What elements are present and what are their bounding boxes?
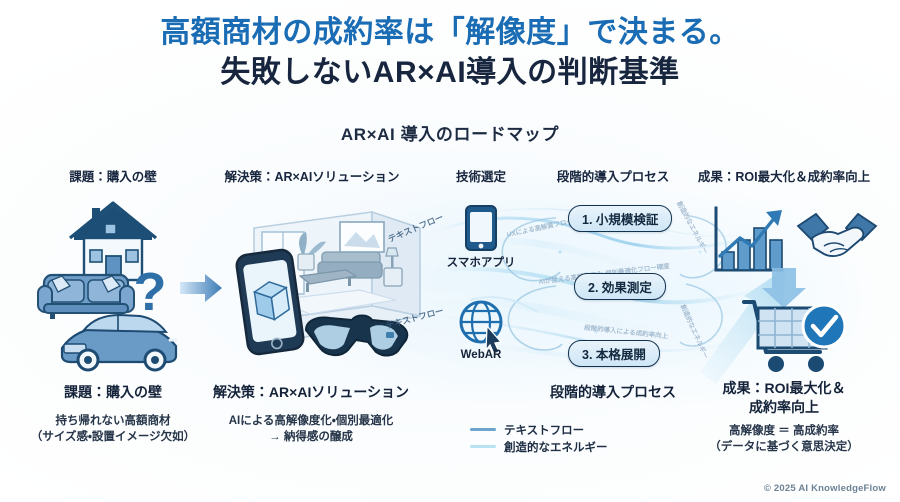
question-mark-icon: ? xyxy=(134,262,167,322)
headline-line-1: 高額商材の成約率は「解像度」で決まる。 xyxy=(0,14,900,52)
column-header-technology: 技術選定 xyxy=(456,166,506,185)
legend-item-energy: 創造的なエネルギー xyxy=(470,438,608,455)
process-steps-group: 1. 小規模検証 2. 効果測定 3. 本格展開 xyxy=(556,205,706,365)
down-arrow-icon xyxy=(762,268,806,308)
svg-text:?: ? xyxy=(134,262,167,322)
house-illustration xyxy=(70,203,156,280)
legend: テキストフロー 創造的なエネルギー xyxy=(470,421,608,455)
smartphone-icon xyxy=(466,206,496,250)
bottom-title-problem: 課題：購入の壁 xyxy=(64,384,162,401)
legend-label-text-flow: テキストフロー xyxy=(504,422,584,438)
car-illustration xyxy=(62,315,176,370)
headline-line-2: 失敗しないAR×AI導入の判断基準 xyxy=(0,54,900,92)
tech-label-smartphone-app: スマホアプリ xyxy=(447,254,516,270)
shopping-cart-illustration xyxy=(744,302,826,372)
column-header-results: 成果：ROI最大化＆成約率向上 xyxy=(698,166,870,185)
smartphone-ar-illustration xyxy=(235,249,304,356)
bottom-subtitle-solution-line2: → 納得感の醸成 xyxy=(269,430,353,446)
column-header-problem: 課題：購入の壁 xyxy=(69,166,157,185)
tech-label-webar: WebAR xyxy=(461,349,502,361)
column-header-process: 段階的導入プロセス xyxy=(557,166,670,185)
process-step-3[interactable]: 3. 本格展開 xyxy=(568,340,660,367)
bottom-title-solution: 解決策：AR×AIソリューション xyxy=(213,384,409,401)
headline-block: 高額商材の成約率は「解像度」で決まる。 失敗しないAR×AI導入の判断基準 xyxy=(0,14,900,93)
bottom-title-process: 段階的導入プロセス xyxy=(550,384,676,401)
column-header-row: 課題：購入の壁 解決策：AR×AIソリューション 技術選定 段階的導入プロセス … xyxy=(0,166,900,188)
process-step-1[interactable]: 1. 小規模検証 xyxy=(568,205,672,232)
transition-arrow-icon xyxy=(180,274,222,302)
legend-swatch-energy xyxy=(470,445,496,448)
flow-label-text-flow-top: テキストフロー xyxy=(386,211,445,245)
bottom-subtitle-results-line2: （データに基づく意思決定） xyxy=(709,440,859,456)
column-header-solution: 解決策：AR×AIソリューション xyxy=(224,166,399,185)
bottom-subtitle-problem-line1: 持ち帰れない高額商材 xyxy=(56,414,171,430)
sofa-illustration xyxy=(38,275,134,319)
flow-label-text-flow-bottom: テキストフロー xyxy=(384,305,444,332)
legend-item-text-flow: テキストフロー xyxy=(470,421,608,438)
bottom-subtitle-problem-line2: （サイズ感・設置イメージ欠如） xyxy=(31,430,195,446)
subheadline: AR×AI 導入のロードマップ xyxy=(0,120,900,145)
infographic-root: ? xyxy=(0,0,900,502)
growth-chart-illustration xyxy=(716,208,782,270)
bottom-title-results-line2: 成約率向上 xyxy=(749,399,819,416)
handshake-illustration xyxy=(798,214,876,256)
process-step-2[interactable]: 2. 効果測定 xyxy=(574,273,666,300)
legend-label-energy: 創造的なエネルギー xyxy=(504,439,608,455)
check-badge-icon xyxy=(803,305,845,347)
globe-cursor-icon xyxy=(461,302,501,354)
bottom-subtitle-results-line1: 高解像度 ＝ 高成約率 xyxy=(729,424,839,440)
legend-swatch-text-flow xyxy=(470,428,496,431)
copyright-text: © 2025 AI KnowledgeFlow xyxy=(764,483,886,494)
bottom-title-results-line1: 成果：ROI最大化＆ xyxy=(723,380,846,397)
bottom-subtitle-solution-line1: AIによる高解像度化・個別最適化 xyxy=(229,414,394,430)
